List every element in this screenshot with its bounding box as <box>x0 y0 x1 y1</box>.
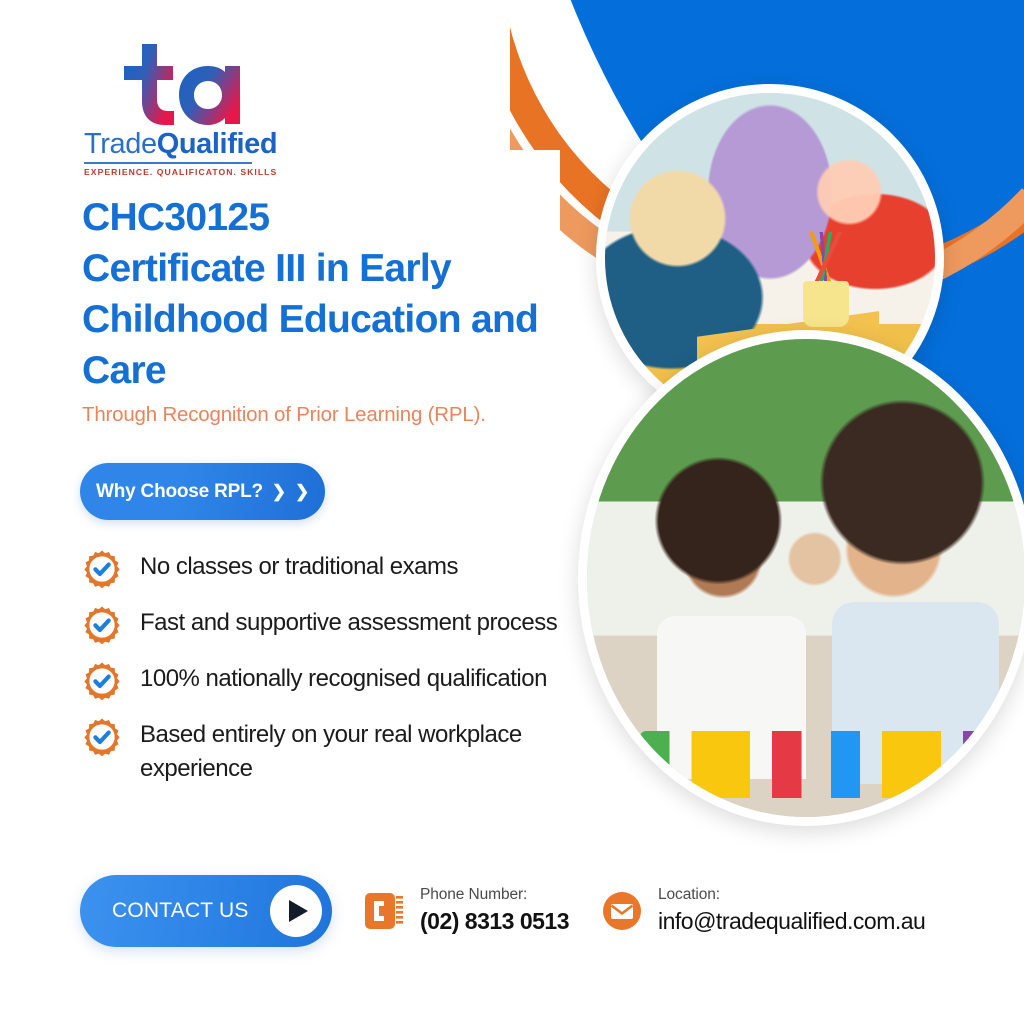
photo-bottom-art <box>587 339 1024 817</box>
brand-logo[interactable]: TradeQualified EXPERIENCE. QUALIFICATON.… <box>84 40 344 177</box>
why-choose-rpl-label: Why Choose RPL? <box>96 481 263 503</box>
list-item: No classes or traditional exams <box>82 548 602 589</box>
photo-top-cup <box>803 281 849 327</box>
phone-icon <box>362 889 406 933</box>
brand-name-bold: Qualified <box>157 128 277 160</box>
course-title: Certificate III in Early Childhood Educa… <box>82 243 552 396</box>
play-arrow-triangle <box>289 900 308 922</box>
course-subtitle: Through Recognition of Prior Learning (R… <box>82 403 602 427</box>
benefits-list: No classes or traditional exams Fast and… <box>82 548 602 801</box>
contact-us-button[interactable]: CONTACT US <box>80 875 332 947</box>
page-title: CHC30125 Certificate III in Early Childh… <box>82 192 552 396</box>
benefit-text: Fast and supportive assessment process <box>140 604 557 640</box>
phone-text-block: Phone Number: (02) 8313 0513 <box>420 886 569 935</box>
benefit-text: No classes or traditional exams <box>140 548 458 584</box>
photo-teacher-with-smiling-child <box>578 330 1024 826</box>
play-arrow-icon <box>270 885 322 937</box>
phone-contact[interactable]: Phone Number: (02) 8313 0513 <box>362 886 569 935</box>
photo-bottom-toys <box>640 731 1008 798</box>
benefit-text: Based entirely on your real workplace ex… <box>140 716 602 786</box>
email-contact[interactable]: Location: info@tradequalified.com.au <box>600 886 925 935</box>
ta-monogram-icon <box>116 40 242 126</box>
check-badge-icon <box>82 605 122 645</box>
check-badge-icon <box>82 717 122 757</box>
brand-wordmark: TradeQualified <box>84 128 344 161</box>
brand-name-light: Trade <box>84 128 157 160</box>
poster-canvas: TradeQualified EXPERIENCE. QUALIFICATON.… <box>0 0 1024 1024</box>
contact-us-label: CONTACT US <box>112 899 270 923</box>
check-badge-icon <box>82 549 122 589</box>
chevron-right-icon: ❯ <box>272 483 286 500</box>
envelope-icon <box>600 889 644 933</box>
phone-label: Phone Number: <box>420 886 569 905</box>
list-item: 100% nationally recognised qualification <box>82 660 602 701</box>
list-item: Fast and supportive assessment process <box>82 604 602 645</box>
email-address: info@tradequalified.com.au <box>658 907 925 936</box>
list-item: Based entirely on your real workplace ex… <box>82 716 602 786</box>
why-choose-rpl-button[interactable]: Why Choose RPL? ❯ ❯ <box>80 463 325 520</box>
chevron-right-icon-2: ❯ <box>295 483 309 500</box>
brand-rule <box>84 162 252 164</box>
course-code: CHC30125 <box>82 192 552 243</box>
brand-tagline: EXPERIENCE. QUALIFICATON. SKILLS <box>84 167 344 177</box>
check-badge-icon <box>82 661 122 701</box>
benefit-text: 100% nationally recognised qualification <box>140 660 547 696</box>
email-text-block: Location: info@tradequalified.com.au <box>658 886 925 935</box>
email-label: Location: <box>658 886 925 905</box>
phone-number: (02) 8313 0513 <box>420 907 569 936</box>
